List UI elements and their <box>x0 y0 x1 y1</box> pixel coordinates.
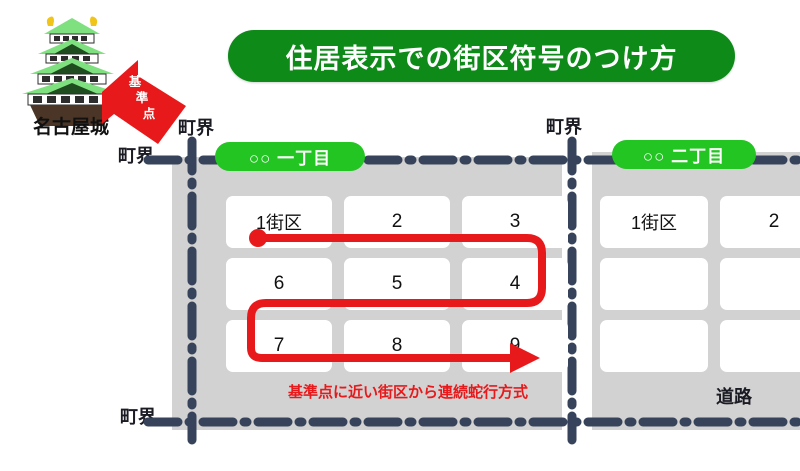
road-label: 道路 <box>716 383 752 409</box>
page-title-text: 住居表示での街区符号のつけ方 <box>286 37 678 76</box>
page-title: 住居表示での街区符号のつけ方 <box>228 30 735 82</box>
snake-start-dot <box>249 229 267 247</box>
diagram-canvas: 名古屋城 基 準 点 町界 町界 町界 町界 ○○ 一丁目 ○○ 二丁目 1街区… <box>0 0 800 471</box>
snake-arrow-head <box>510 343 540 373</box>
snake-path-caption: 基準点に近い街区から連続蛇行方式 <box>288 381 528 402</box>
